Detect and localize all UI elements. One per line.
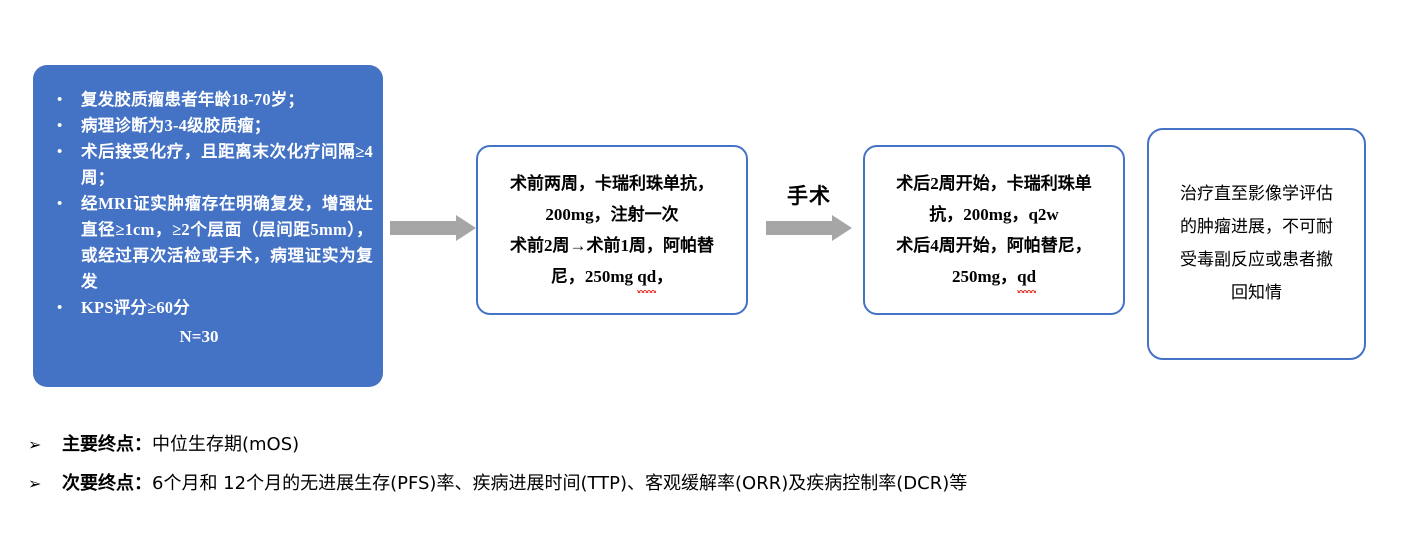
secondary-endpoint-row: ➢ 次要终点： 6个月和 12个月的无进展生存(PFS)率、疾病进展时间(TTP…	[28, 471, 1378, 497]
bullet-icon: •	[57, 139, 62, 165]
treatment-line: 术后2周开始，卡瑞利珠单	[896, 168, 1092, 199]
criteria-item: • KPS评分≥60分	[47, 295, 373, 321]
bullet-icon: •	[57, 295, 62, 321]
surgery-step-label: 手术	[766, 180, 852, 210]
criteria-item-text: KPS评分≥60分	[81, 298, 190, 317]
criteria-item: • 经MRI证实肿瘤存在明确复发，增强灶直径≥1cm，≥2个层面（层间距5mm）…	[47, 191, 373, 295]
primary-endpoint-label: 主要终点：	[62, 432, 152, 458]
criteria-item-text: 复发胶质瘤患者年龄18-70岁；	[81, 90, 304, 109]
primary-endpoint-row: ➢ 主要终点： 中位生存期(mOS)	[28, 432, 1378, 458]
treatment-line: 术前2周→术前1周，阿帕替	[510, 230, 714, 261]
criteria-item: • 术后接受化疗，且距离末次化疗间隔≥4周；	[47, 139, 373, 191]
secondary-endpoint-value: 6个月和 12个月的无进展生存(PFS)率、疾病进展时间(TTP)、客观缓解率(…	[152, 471, 967, 497]
eligibility-criteria-list: • 复发胶质瘤患者年龄18-70岁； • 病理诊断为3-4级胶质瘤； • 术后接…	[47, 87, 373, 321]
arrow-shaft	[766, 221, 832, 235]
eligibility-criteria-box: • 复发胶质瘤患者年龄18-70岁； • 病理诊断为3-4级胶质瘤； • 术后接…	[33, 65, 383, 387]
treatment-until-progression-box: 治疗直至影像学评估 的肿瘤进展，不可耐 受毒副反应或患者撤 回知情	[1147, 128, 1366, 360]
arrow-head	[456, 215, 476, 241]
flow-arrow-right-icon	[390, 215, 476, 241]
treatment-line: 250mg，qd	[952, 261, 1036, 292]
outcome-line: 回知情	[1231, 277, 1282, 310]
primary-endpoint-value: 中位生存期(mOS)	[152, 432, 299, 458]
bullet-icon: •	[57, 87, 62, 113]
arrowhead-bullet-icon: ➢	[28, 471, 62, 497]
arrow-shaft	[390, 221, 456, 235]
endpoints-section: ➢ 主要终点： 中位生存期(mOS) ➢ 次要终点： 6个月和 12个月的无进展…	[28, 432, 1378, 510]
flow-arrow-right-icon	[766, 215, 852, 241]
spellcheck-underline: qd	[1017, 261, 1036, 292]
outcome-line: 的肿瘤进展，不可耐	[1180, 211, 1333, 244]
spellcheck-underline: qd	[637, 261, 656, 292]
criteria-item-text: 术后接受化疗，且距离末次化疗间隔≥4周；	[81, 142, 373, 187]
post-surgery-treatment-box: 术后2周开始，卡瑞利珠单 抗，200mg，q2w 术后4周开始，阿帕替尼， 25…	[863, 145, 1125, 315]
treatment-line: 尼，250mg qd，	[551, 261, 673, 292]
criteria-item-text: 经MRI证实肿瘤存在明确复发，增强灶直径≥1cm，≥2个层面（层间距5mm），或…	[81, 194, 373, 291]
arrow-head	[832, 215, 852, 241]
bullet-icon: •	[57, 191, 62, 217]
pre-surgery-treatment-box: 术前两周，卡瑞利珠单抗， 200mg，注射一次 术前2周→术前1周，阿帕替 尼，…	[476, 145, 748, 315]
criteria-item: • 病理诊断为3-4级胶质瘤；	[47, 113, 373, 139]
treatment-line: 抗，200mg，q2w	[929, 199, 1058, 230]
treatment-line: 术前两周，卡瑞利珠单抗，	[510, 168, 714, 199]
outcome-line: 治疗直至影像学评估	[1180, 178, 1333, 211]
bullet-icon: •	[57, 113, 62, 139]
treatment-line: 术后4周开始，阿帕替尼，	[896, 230, 1092, 261]
criteria-item-text: 病理诊断为3-4级胶质瘤；	[81, 116, 271, 135]
outcome-line: 受毒副反应或患者撤	[1180, 244, 1333, 277]
criteria-item: • 复发胶质瘤患者年龄18-70岁；	[47, 87, 373, 113]
treatment-line: 200mg，注射一次	[545, 199, 678, 230]
secondary-endpoint-label: 次要终点：	[62, 471, 152, 497]
arrowhead-bullet-icon: ➢	[28, 432, 62, 458]
sample-size-label: N=30	[47, 323, 373, 351]
